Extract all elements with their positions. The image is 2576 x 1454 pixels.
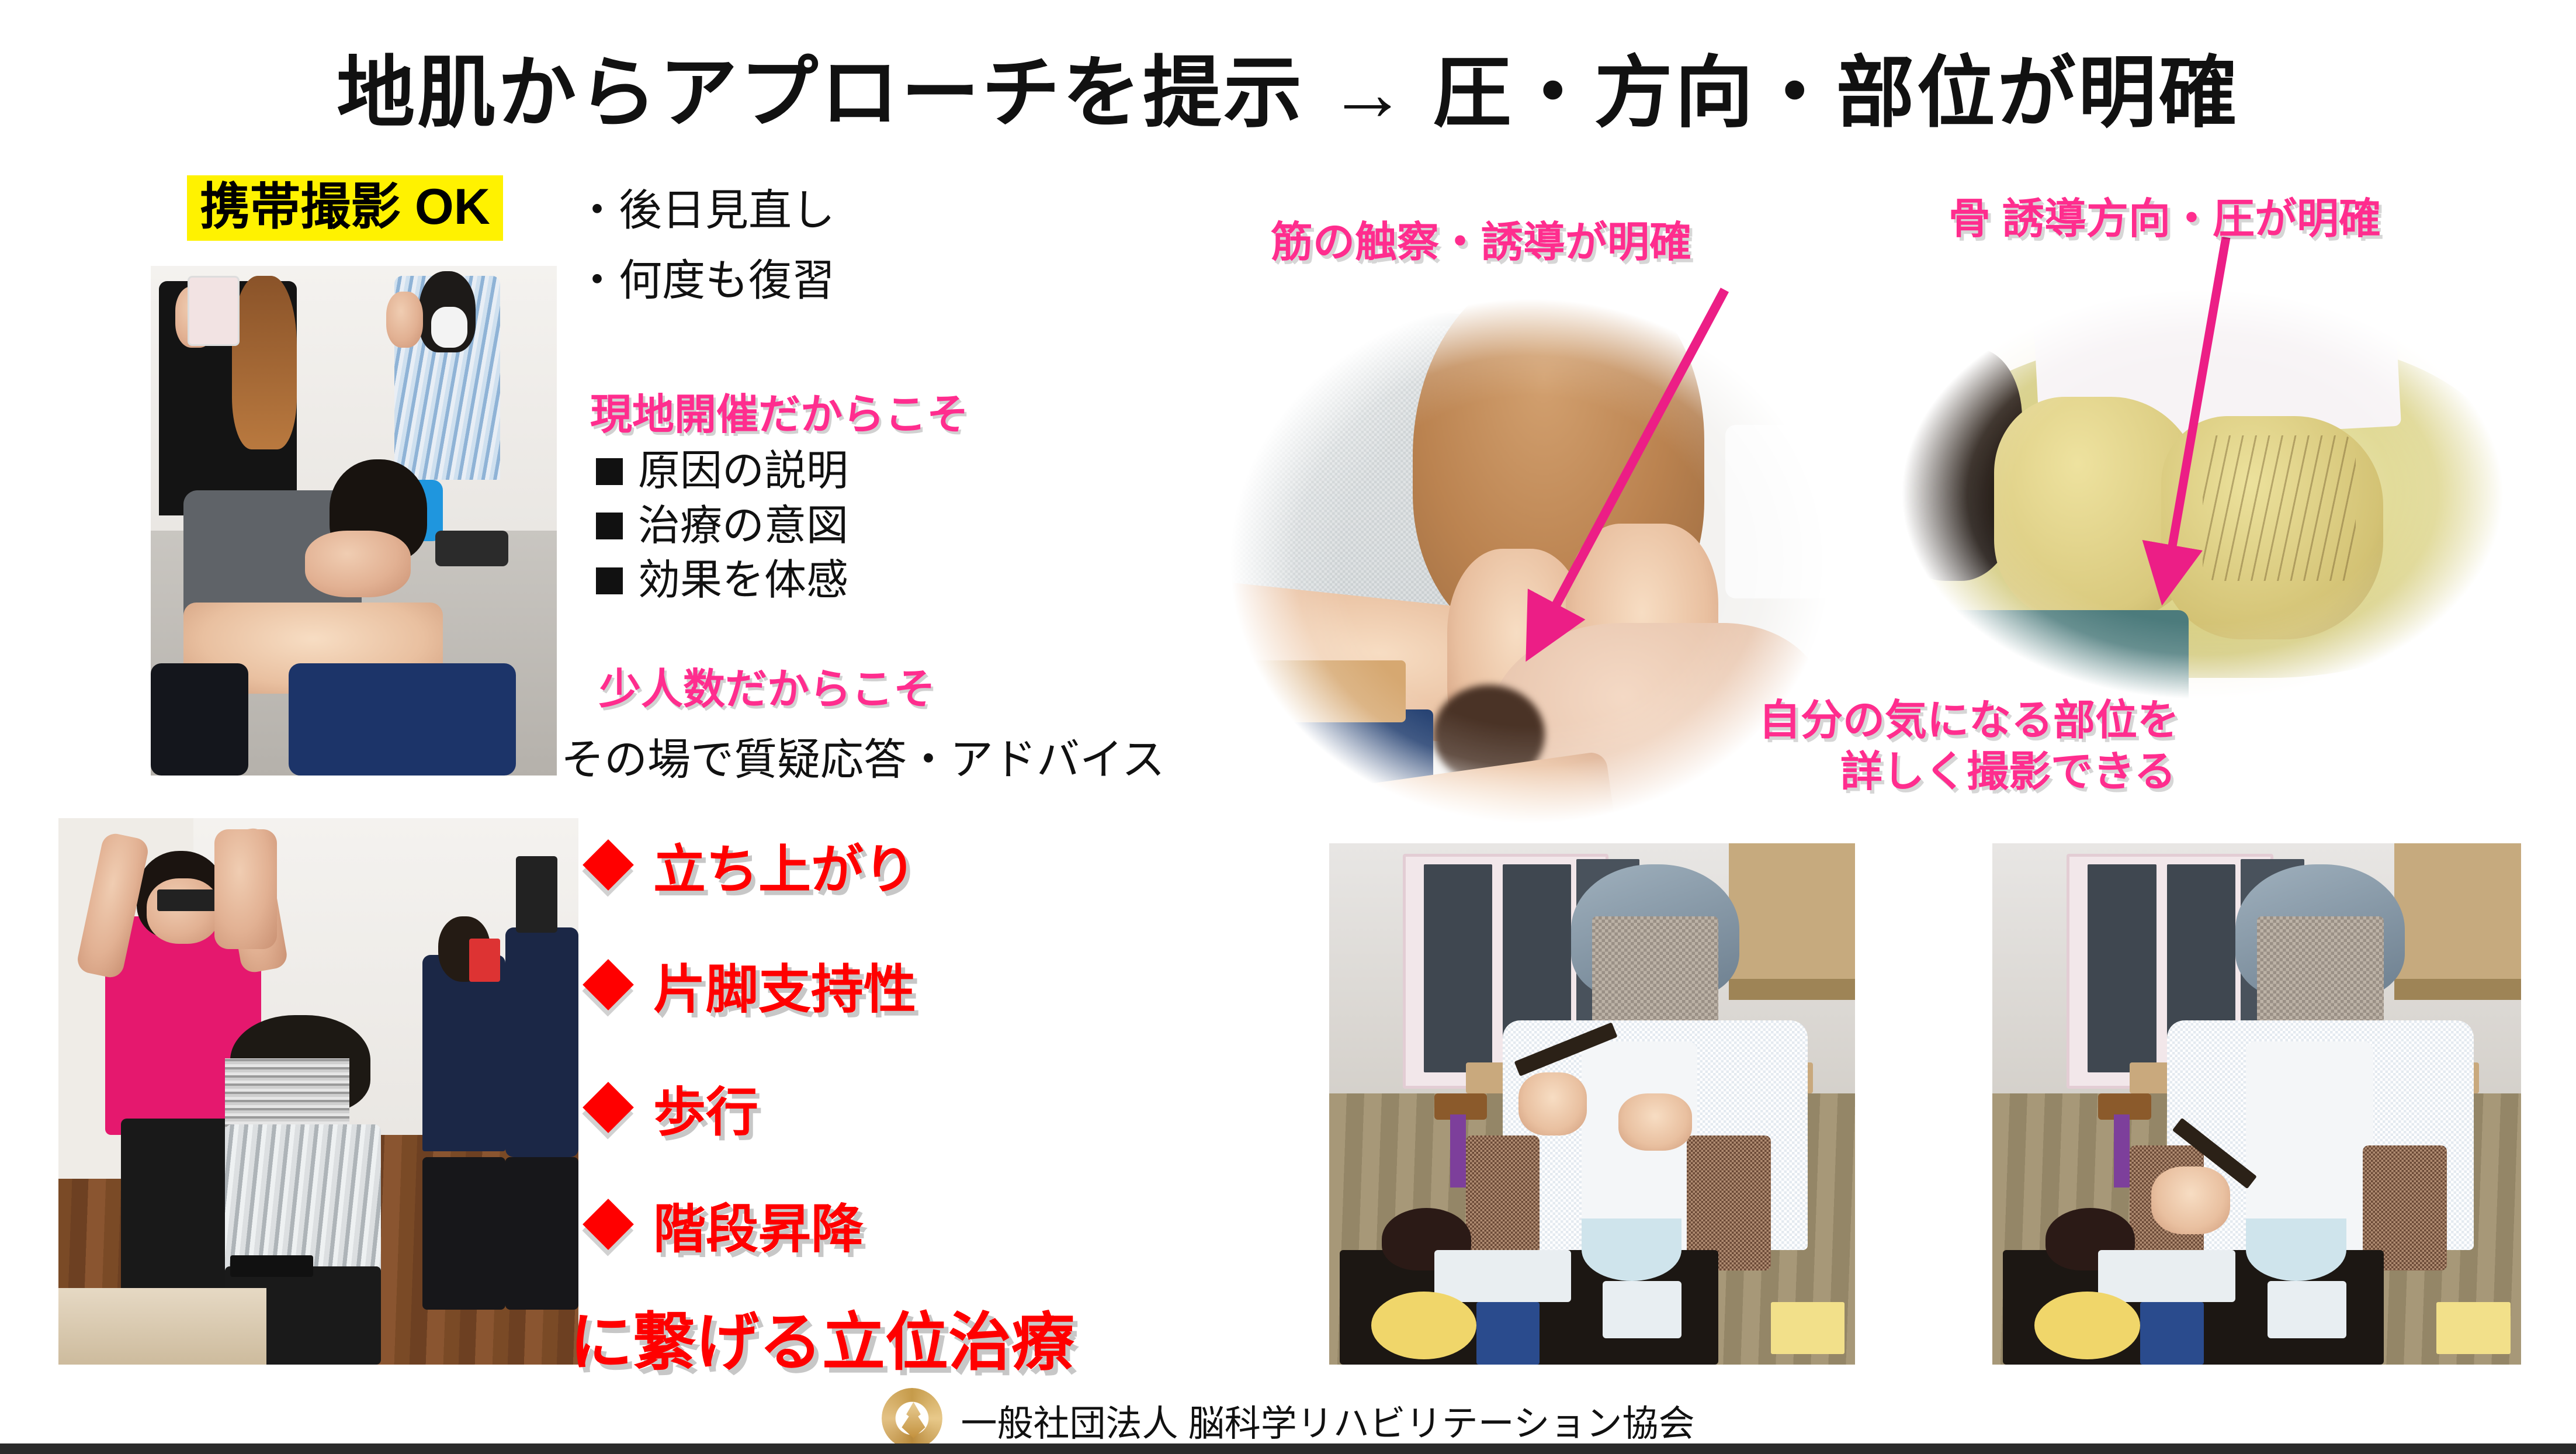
onsite-benefit-label: 原因の説明 bbox=[638, 444, 848, 499]
diamond-bullet-icon bbox=[583, 1082, 634, 1133]
annotation-self-photo-line2: 詳しく撮影できる bbox=[1759, 747, 2179, 798]
square-bullet-icon bbox=[596, 567, 623, 594]
diamond-bullet-icon bbox=[583, 959, 634, 1010]
photo-seminar-floor-demo bbox=[151, 266, 557, 776]
page-title: 地肌からアプローチを提示 → 圧・方向・部位が明確 bbox=[0, 29, 2576, 143]
square-bullet-icon bbox=[596, 458, 623, 485]
goal-item-3: 歩行 bbox=[590, 1069, 758, 1145]
photo-meal-scene-left bbox=[1329, 843, 1855, 1365]
diamond-bullet-icon bbox=[583, 839, 634, 891]
photo-meal-scene-right bbox=[1992, 843, 2521, 1365]
annotation-self-photo-line1: 自分の気になる部位を bbox=[1759, 697, 2179, 744]
goal-label: 歩行 bbox=[653, 1069, 758, 1145]
square-bullet-icon bbox=[596, 513, 623, 539]
bottom-bar bbox=[0, 1443, 2576, 1454]
onsite-benefit-label: 治療の意図 bbox=[638, 499, 848, 554]
annotation-muscle: 筋の触察・誘導が明確 bbox=[1271, 207, 1691, 269]
goal-conclusion: に繋げる立位治療 bbox=[570, 1292, 1074, 1383]
review-bullet-1: ・後日見直し bbox=[575, 175, 835, 245]
mobile-photo-ok-badge: 携帯撮影 OK bbox=[187, 175, 503, 241]
annotation-bone: 骨 誘導方向・圧が明確 bbox=[1949, 184, 2381, 245]
small-group-note: その場で質疑応答・アドバイス bbox=[561, 725, 1165, 787]
annotation-self-photo: 自分の気になる部位を 詳しく撮影できる bbox=[1759, 695, 2179, 798]
goal-item-1: 立ち上がり bbox=[590, 827, 916, 903]
heading-small-group: 少人数だからこそ bbox=[599, 655, 935, 716]
goal-item-2: 片脚支持性 bbox=[590, 947, 916, 1023]
onsite-benefit-item: 効果を体感 bbox=[596, 553, 848, 608]
goal-label: 立ち上がり bbox=[653, 827, 916, 903]
photo-standing-assist-demo bbox=[58, 818, 578, 1365]
onsite-benefit-label: 効果を体感 bbox=[638, 553, 848, 608]
photo-bone-guidance bbox=[1855, 251, 2550, 736]
heading-onsite: 現地開催だからこそ bbox=[590, 380, 969, 441]
goal-item-4: 階段昇降 bbox=[590, 1186, 864, 1262]
review-bullet-list: ・後日見直し ・何度も復習 bbox=[575, 175, 835, 316]
association-logo bbox=[882, 1388, 946, 1452]
onsite-benefit-item: 治療の意図 bbox=[596, 499, 848, 554]
onsite-benefit-item: 原因の説明 bbox=[596, 444, 848, 499]
diamond-bullet-icon bbox=[583, 1199, 634, 1250]
slide-root: 地肌からアプローチを提示 → 圧・方向・部位が明確 bbox=[0, 0, 2576, 1454]
onsite-benefit-list: 原因の説明 治療の意図 効果を体感 bbox=[596, 444, 848, 608]
goal-label: 片脚支持性 bbox=[653, 947, 916, 1023]
goal-label: 階段昇降 bbox=[653, 1186, 864, 1262]
footer-organization: 一般社団法人 脳科学リハビリテーション協会 bbox=[961, 1394, 1695, 1446]
review-bullet-2: ・何度も復習 bbox=[575, 245, 835, 316]
